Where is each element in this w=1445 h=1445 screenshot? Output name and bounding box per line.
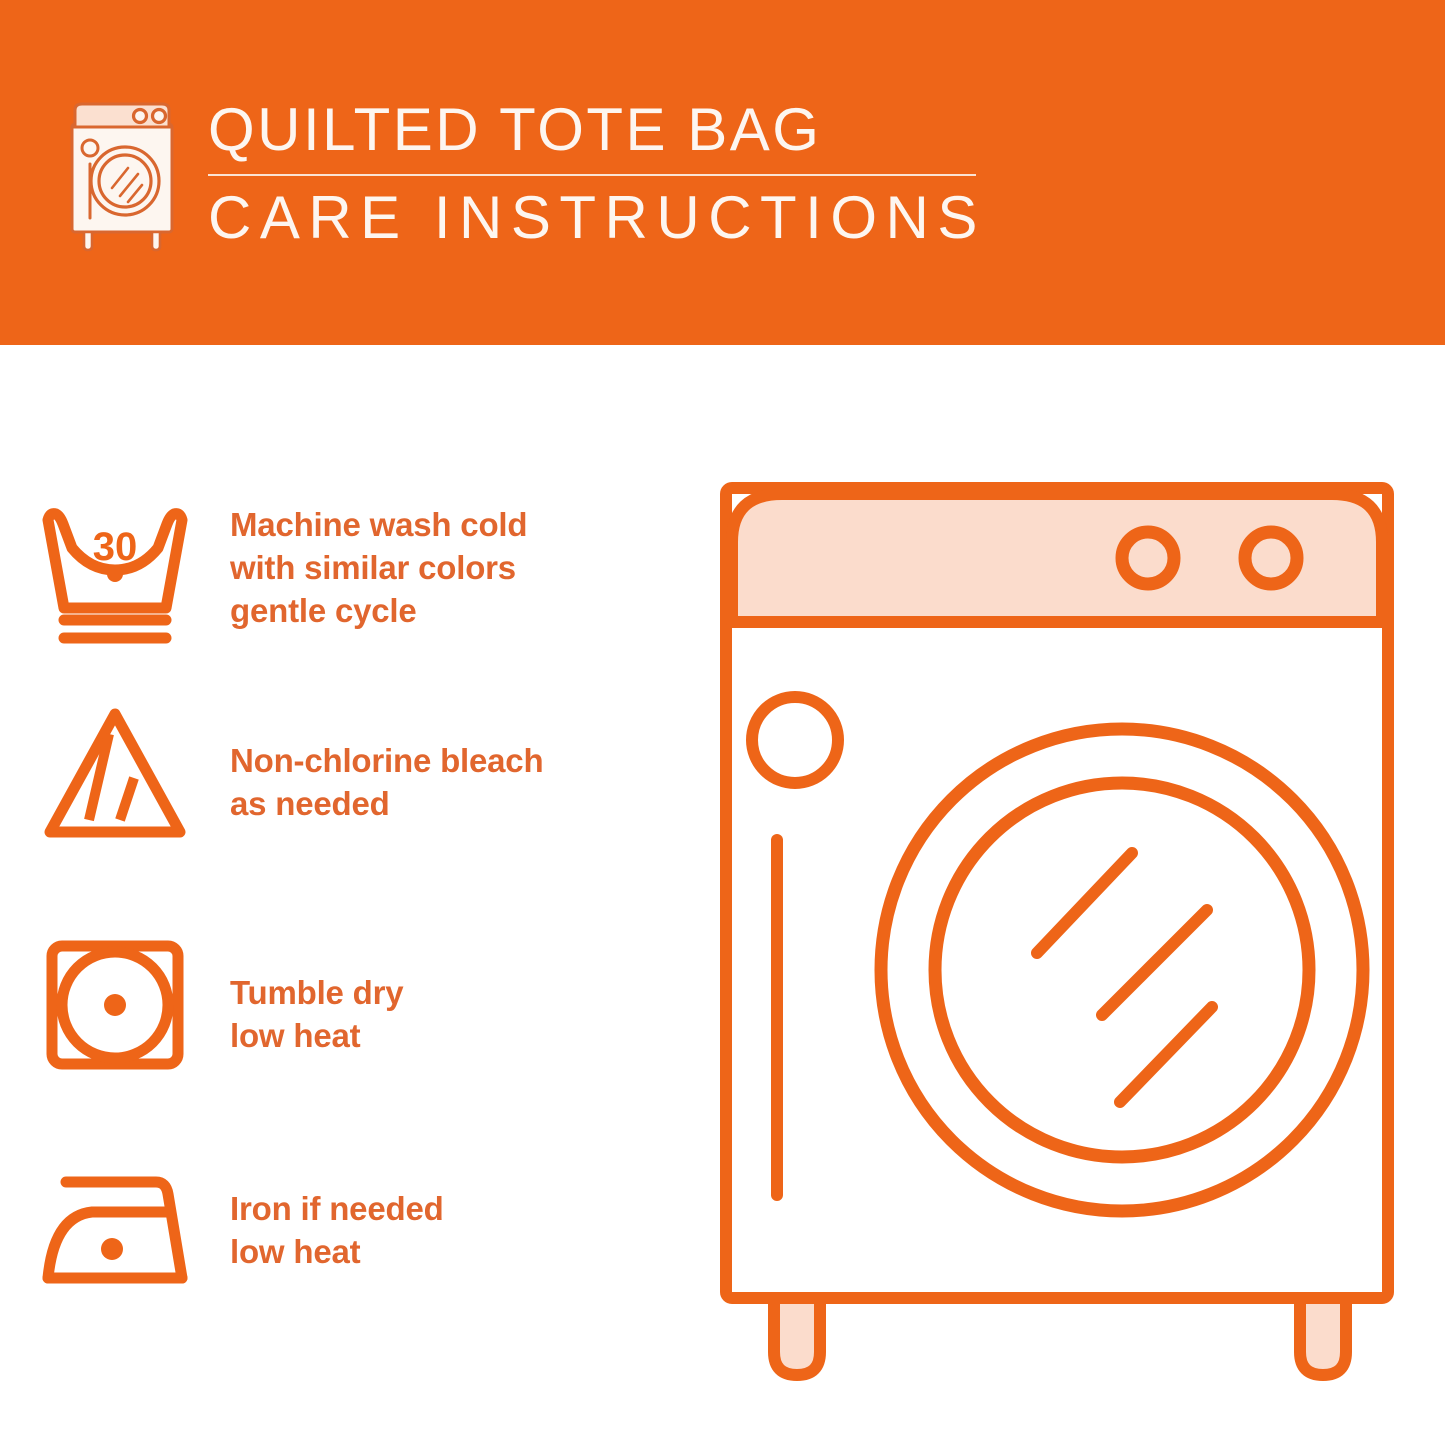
dial-right (1245, 532, 1297, 584)
care-label-line: Iron if needed (230, 1188, 700, 1231)
leg-left (774, 1298, 820, 1375)
care-label-line: Tumble dry (230, 972, 700, 1015)
tumble-dry-low-icon (0, 930, 230, 1080)
care-label: Machine wash cold with similar colors ge… (230, 498, 700, 633)
care-label-line: Non-chlorine bleach (230, 740, 700, 783)
leg-right (1300, 1298, 1346, 1375)
care-label-line: as needed (230, 783, 700, 826)
care-label-line: low heat (230, 1015, 700, 1058)
non-chlorine-bleach-triangle-icon (0, 700, 230, 850)
front-load-washing-machine-illustration (712, 470, 1402, 1390)
machine-wash-30-icon: 30 (0, 498, 230, 648)
care-label: Non-chlorine bleach as needed (230, 700, 700, 826)
care-instructions-infographic: QUILTED TOTE BAG CARE INSTRUCTIONS 30 (0, 0, 1445, 1445)
dial-left (1122, 532, 1174, 584)
washing-machine-icon (62, 96, 182, 256)
care-label: Iron if needed low heat (230, 1150, 700, 1274)
care-label-line: Machine wash cold (230, 504, 700, 547)
list-item: 30 Machine wash cold with similar colors… (0, 498, 700, 648)
iron-low-heat-icon (0, 1150, 230, 1300)
care-label-line: gentle cycle (230, 590, 700, 633)
page-title: QUILTED TOTE BAG (208, 100, 988, 160)
wash-temperature-value: 30 (93, 525, 138, 569)
title-divider (208, 174, 976, 176)
list-item: Iron if needed low heat (0, 1150, 700, 1300)
list-item: Tumble dry low heat (0, 930, 700, 1080)
header-band: QUILTED TOTE BAG CARE INSTRUCTIONS (0, 0, 1445, 345)
list-item: Non-chlorine bleach as needed (0, 700, 700, 850)
care-label: Tumble dry low heat (230, 930, 700, 1058)
care-label-line: low heat (230, 1231, 700, 1274)
care-label-line: with similar colors (230, 547, 700, 590)
header-title-block: QUILTED TOTE BAG CARE INSTRUCTIONS (208, 100, 988, 249)
page-subtitle: CARE INSTRUCTIONS (208, 186, 988, 249)
